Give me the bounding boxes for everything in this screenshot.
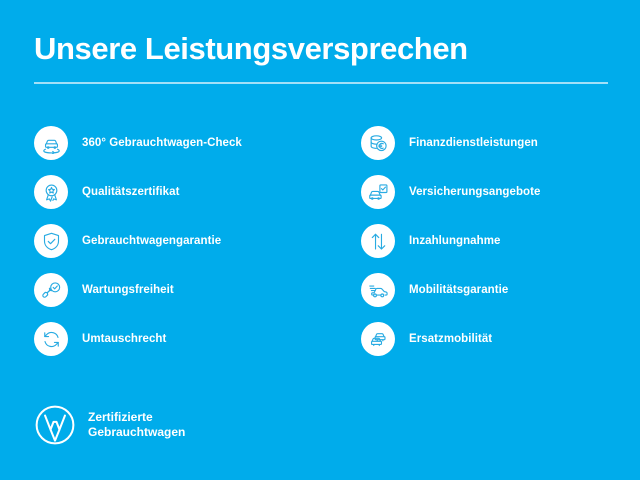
benefit-label: Inzahlungnahme <box>409 235 500 247</box>
award-rosette-icon <box>34 175 68 209</box>
page-title: Unsere Leistungsversprechen <box>34 30 468 68</box>
shield-check-icon <box>34 224 68 258</box>
benefit-item-financial-services[interactable]: Finanzdienstleistungen <box>361 126 640 160</box>
benefit-label: Umtauschrecht <box>82 333 166 345</box>
exchange-arrows-icon <box>34 322 68 356</box>
benefit-label: Mobilitätsgarantie <box>409 284 508 296</box>
coins-euro-icon <box>361 126 395 160</box>
car-360-check-icon <box>34 126 68 160</box>
car-motion-icon <box>361 273 395 307</box>
benefit-label: Wartungsfreiheit <box>82 284 174 296</box>
benefit-item-replacement-mobility[interactable]: Ersatzmobilität <box>361 322 640 356</box>
benefit-label: Versicherungsangebote <box>409 186 540 198</box>
benefit-label: Ersatzmobilität <box>409 333 492 345</box>
footer-brand: Zertifizierte Gebrauchtwagen <box>34 404 185 446</box>
footer-line-1: Zertifizierte <box>88 410 185 425</box>
benefit-label: Finanzdienstleistungen <box>409 137 538 149</box>
benefit-column-right: Finanzdienstleistungen Versicherungsange… <box>361 126 640 371</box>
benefit-item-360-check[interactable]: 360° Gebrauchtwagen-Check <box>34 126 314 160</box>
up-down-arrows-icon <box>361 224 395 258</box>
benefit-item-quality-certificate[interactable]: Qualitätszertifikat <box>34 175 314 209</box>
wrench-check-icon <box>34 273 68 307</box>
benefit-item-exchange-right[interactable]: Umtauschrecht <box>34 322 314 356</box>
promise-panel: Unsere Leistungsversprechen 360° Gebrauc… <box>0 0 640 480</box>
benefit-item-maintenance-free[interactable]: Wartungsfreiheit <box>34 273 314 307</box>
benefit-item-mobility-guarantee[interactable]: Mobilitätsgarantie <box>361 273 640 307</box>
benefit-label: 360° Gebrauchtwagen-Check <box>82 137 242 149</box>
benefit-item-warranty[interactable]: Gebrauchtwagengarantie <box>34 224 314 258</box>
title-divider <box>34 82 608 84</box>
benefit-label: Qualitätszertifikat <box>82 186 179 198</box>
car-document-check-icon <box>361 175 395 209</box>
two-cars-icon <box>361 322 395 356</box>
benefit-column-left: 360° Gebrauchtwagen-Check Qualitätszerti… <box>34 126 314 371</box>
volkswagen-logo-icon <box>34 404 76 446</box>
benefit-item-trade-in[interactable]: Inzahlungnahme <box>361 224 640 258</box>
footer-brand-text: Zertifizierte Gebrauchtwagen <box>88 410 185 440</box>
benefit-item-insurance-offers[interactable]: Versicherungsangebote <box>361 175 640 209</box>
footer-line-2: Gebrauchtwagen <box>88 425 185 440</box>
benefit-label: Gebrauchtwagengarantie <box>82 235 221 247</box>
